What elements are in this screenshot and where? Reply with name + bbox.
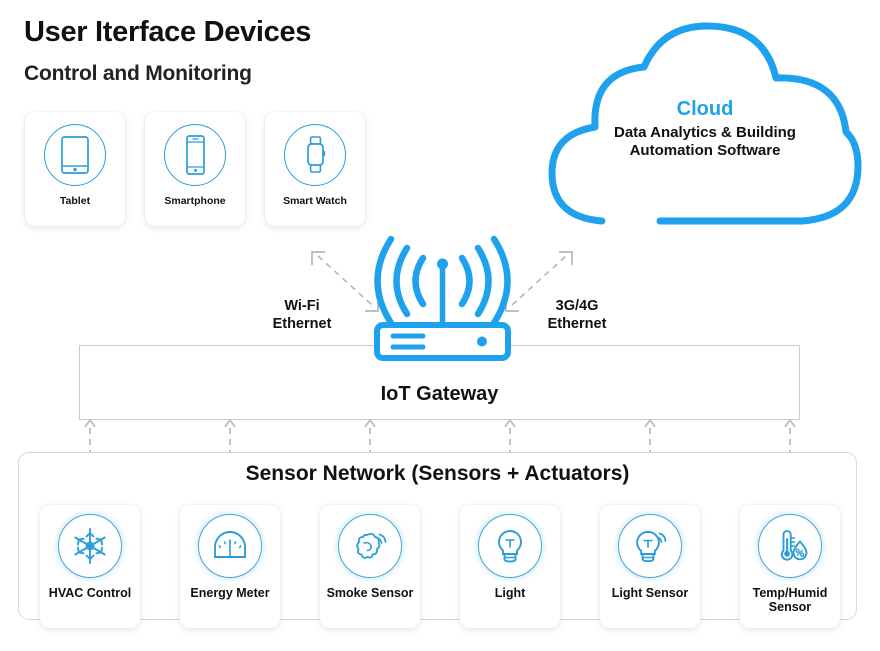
cloud-group: Cloud Data Analytics & Building Automati… xyxy=(540,10,870,225)
page-subtitle: Control and Monitoring xyxy=(24,62,252,86)
sensor-label: Energy Meter xyxy=(182,586,278,600)
wifi-label-line1: Wi-Fi xyxy=(243,298,361,316)
sensor-label: Light xyxy=(462,586,558,600)
smoke-detector-icon xyxy=(338,514,402,578)
sensor-card-hvac-control[interactable]: HVAC Control xyxy=(40,505,140,628)
cloud-icon xyxy=(540,10,870,225)
sensor-label: Light Sensor xyxy=(602,586,698,600)
sensor-label: Temp/Humid Sensor xyxy=(742,586,838,615)
sensor-label: Smoke Sensor xyxy=(322,586,418,600)
lightbulb-icon xyxy=(478,514,542,578)
iot-gateway-label: IoT Gateway xyxy=(79,383,800,406)
thermometer-humidity-icon xyxy=(758,514,822,578)
cellular-ethernet-label: 3G/4G Ethernet xyxy=(518,298,636,333)
router-icon[interactable] xyxy=(360,236,525,361)
lightbulb-signal-icon xyxy=(618,514,682,578)
sensor-card-light-sensor[interactable]: Light Sensor xyxy=(600,505,700,628)
wifi-ethernet-label: Wi-Fi Ethernet xyxy=(243,298,361,333)
sensor-card-light[interactable]: Light xyxy=(460,505,560,628)
cellular-label-line2: Ethernet xyxy=(518,316,636,334)
wifi-label-line2: Ethernet xyxy=(243,316,361,334)
device-card-tablet[interactable]: Tablet xyxy=(25,112,125,226)
sensor-network-title: Sensor Network (Sensors + Actuators) xyxy=(18,462,857,486)
sensor-card-smoke-sensor[interactable]: Smoke Sensor xyxy=(320,505,420,628)
gauge-icon xyxy=(198,514,262,578)
smartphone-icon xyxy=(164,124,226,186)
smart-watch-icon xyxy=(284,124,346,186)
device-card-smartphone[interactable]: Smartphone xyxy=(145,112,245,226)
snowflake-icon xyxy=(58,514,122,578)
page-title: User Iterface Devices xyxy=(24,16,311,49)
sensor-card-energy-meter[interactable]: Energy Meter xyxy=(180,505,280,628)
sensor-label-line1: Temp/Humid xyxy=(742,586,838,600)
device-card-smart-watch[interactable]: Smart Watch xyxy=(265,112,365,226)
device-label: Smartphone xyxy=(164,195,225,207)
tablet-icon xyxy=(44,124,106,186)
sensor-label: HVAC Control xyxy=(42,586,138,600)
device-label: Smart Watch xyxy=(283,195,347,207)
cellular-label-line1: 3G/4G xyxy=(518,298,636,316)
sensor-label-line2: Sensor xyxy=(742,600,838,614)
device-label: Tablet xyxy=(60,195,90,207)
sensor-card-temp-humid-sensor[interactable]: Temp/Humid Sensor xyxy=(740,505,840,628)
